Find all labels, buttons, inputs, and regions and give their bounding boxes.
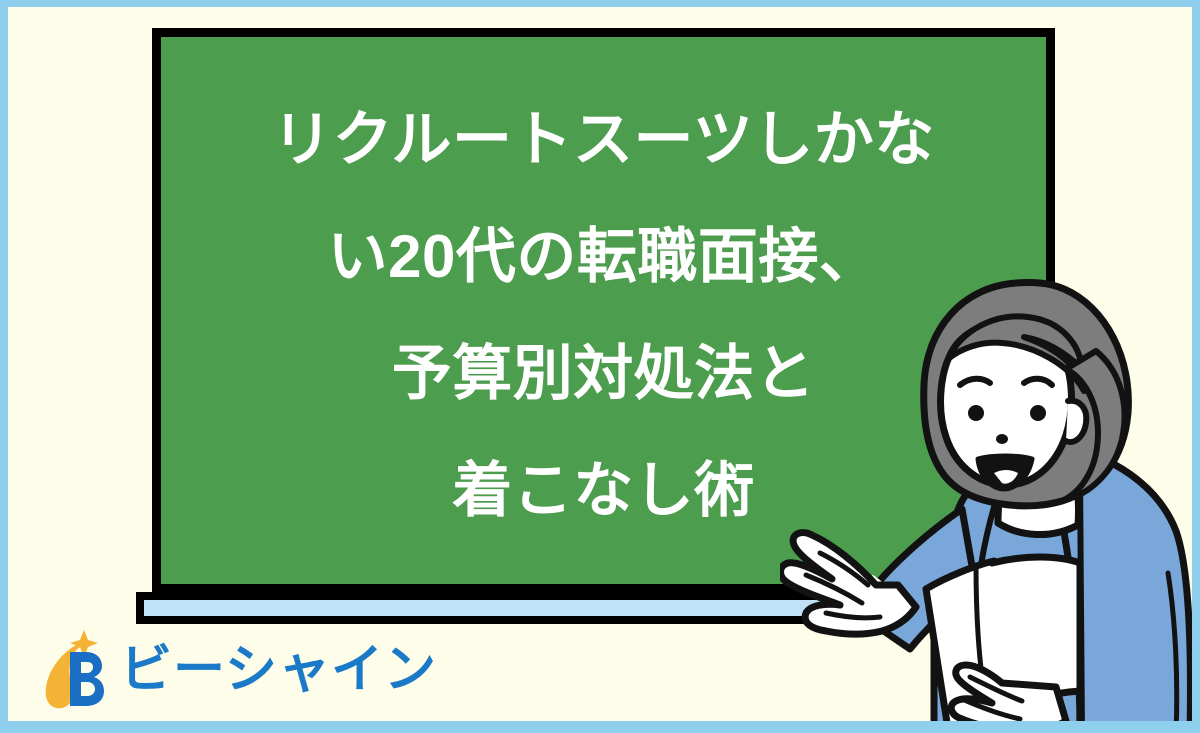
frame-border-right xyxy=(1192,0,1200,733)
frame-border-bottom xyxy=(0,721,1200,733)
woman-teacher-illustration xyxy=(780,273,1200,733)
title-line-1: リクルートスーツしかな xyxy=(161,81,1046,198)
thumbnail-canvas: リクルートスーツしかな い20代の転職面接、 予算別対処法と 着こなし術 xyxy=(0,0,1200,733)
logo-text: ビーシャイン xyxy=(120,644,437,696)
frame-border-top xyxy=(0,0,1200,7)
site-logo[interactable]: ビーシャイン xyxy=(40,630,437,710)
frame-border-left xyxy=(0,0,8,733)
bshine-b-star-icon xyxy=(40,630,110,710)
